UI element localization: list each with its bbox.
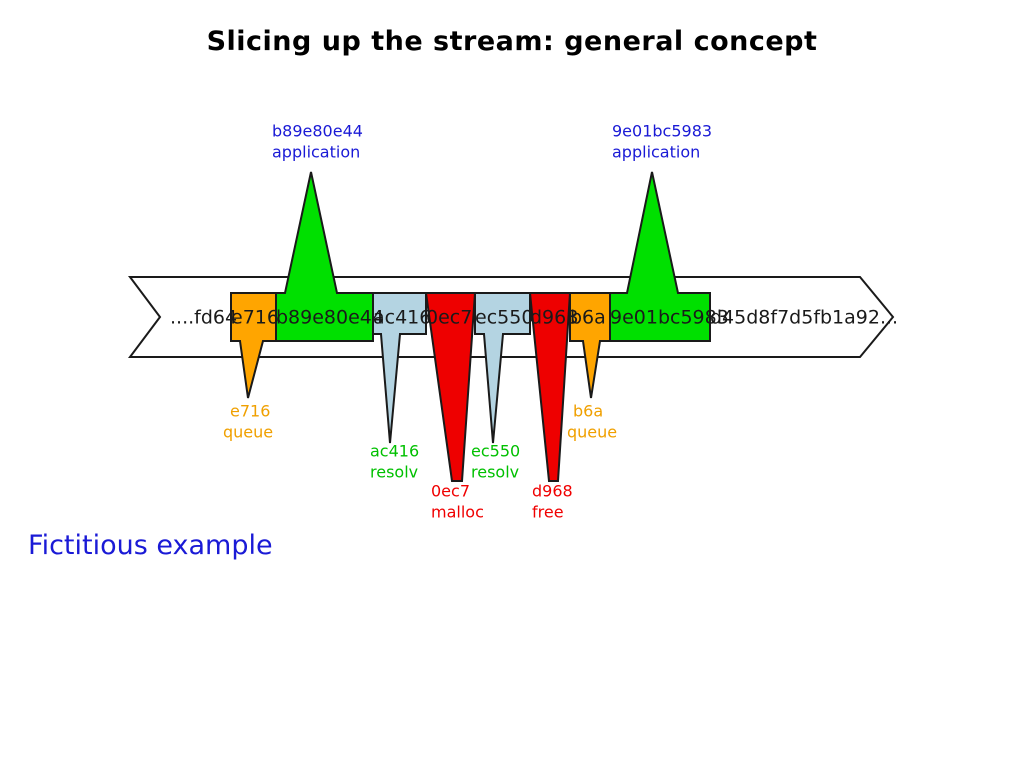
callout-key-b89e80e44: b89e80e44 [272, 122, 363, 141]
segment-label-e716: e716 [231, 307, 279, 329]
callout-below-e716: e716 queue [223, 402, 273, 442]
callout-key-b6a: b6a [573, 402, 603, 421]
callout-above-9e01bc5983: 9e01bc5983 application [612, 122, 712, 162]
slide-canvas: Slicing up the stream: general concept .… [0, 0, 1024, 768]
callout-key-ec550: ec550 [471, 442, 520, 461]
callout-role-b6a: queue [567, 423, 617, 442]
stream-prefix-text: ....fd64 [170, 307, 237, 329]
callout-key-ac416: ac416 [370, 442, 419, 461]
callout-key-d968: d968 [532, 482, 573, 501]
footnote-text: Fictitious example [28, 530, 273, 561]
segment-label-ac416: ac416 [373, 307, 431, 329]
callout-key-9e01bc5983: 9e01bc5983 [612, 122, 712, 141]
stream-suffix-text: d45d8f7d5fb1a92... [710, 307, 898, 329]
callout-below-b6a: b6a queue [567, 402, 617, 442]
callout-above-b89e80e44: b89e80e44 application [272, 122, 363, 162]
callout-role-9e01bc5983: application [612, 143, 700, 162]
segment-label-b89e80e44: b89e80e44 [276, 307, 384, 329]
segment-label-0ec7: 0ec7 [426, 307, 472, 329]
callout-key-0ec7: 0ec7 [431, 482, 470, 501]
callout-role-0ec7: malloc [431, 503, 484, 522]
callout-role-e716: queue [223, 423, 273, 442]
segment-label-b6a: b6a [570, 307, 606, 329]
callout-role-d968: free [532, 503, 564, 522]
callout-key-e716: e716 [230, 402, 270, 421]
callout-below-0ec7: 0ec7 malloc [431, 482, 484, 522]
callout-role-b89e80e44: application [272, 143, 360, 162]
callout-below-ac416: ac416 resolv [370, 442, 419, 482]
callout-role-ec550: resolv [471, 463, 519, 482]
callout-below-ec550: ec550 resolv [471, 442, 520, 482]
callout-role-ac416: resolv [370, 463, 418, 482]
segment-label-ec550: ec550 [475, 307, 533, 329]
callout-below-d968: d968 free [532, 482, 573, 522]
stream-slicing-diagram: ....fd64 e716 b89e80e44 ac416 0ec7 ec550… [0, 0, 1024, 768]
